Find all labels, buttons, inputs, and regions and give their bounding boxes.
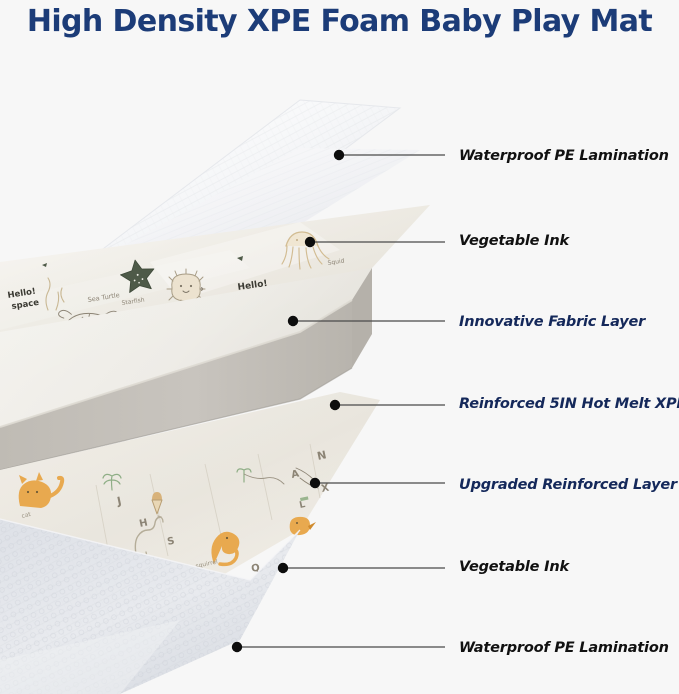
infographic-canvas: High Density XPE Foam Baby Play Mat — [0, 0, 679, 694]
svg-text:X: X — [320, 483, 330, 495]
callout-label-waterproof-pe-lamination-bottom: Waterproof PE Lamination — [459, 640, 669, 656]
leader-dot-upgraded-reinforced-layer — [310, 478, 320, 488]
callout-label-vegetable-ink-bottom: Vegetable Ink — [459, 559, 569, 575]
leader-dot-reinforced-hot-melt-xpe — [330, 400, 340, 410]
callout-label-vegetable-ink-top: Vegetable Ink — [459, 233, 569, 249]
leader-dot-waterproof-pe-lamination-bottom — [232, 642, 242, 652]
callout-label-reinforced-hot-melt-xpe: Reinforced 5IN Hot Melt XPE — [459, 396, 679, 412]
callout-label-upgraded-reinforced-layer: Upgraded Reinforced Layer — [459, 477, 677, 493]
product-layer-illustration: Sea Turtle Starfish — [0, 0, 679, 694]
leader-dot-vegetable-ink-bottom — [278, 563, 288, 573]
doodle-bird — [290, 517, 316, 535]
callout-label-innovative-fabric-layer: Innovative Fabric Layer — [459, 314, 645, 330]
leader-dot-innovative-fabric-layer — [288, 316, 298, 326]
leader-dot-waterproof-pe-lamination-top — [334, 150, 344, 160]
callout-label-waterproof-pe-lamination-top: Waterproof PE Lamination — [459, 148, 669, 164]
leader-dot-vegetable-ink-top — [305, 237, 315, 247]
